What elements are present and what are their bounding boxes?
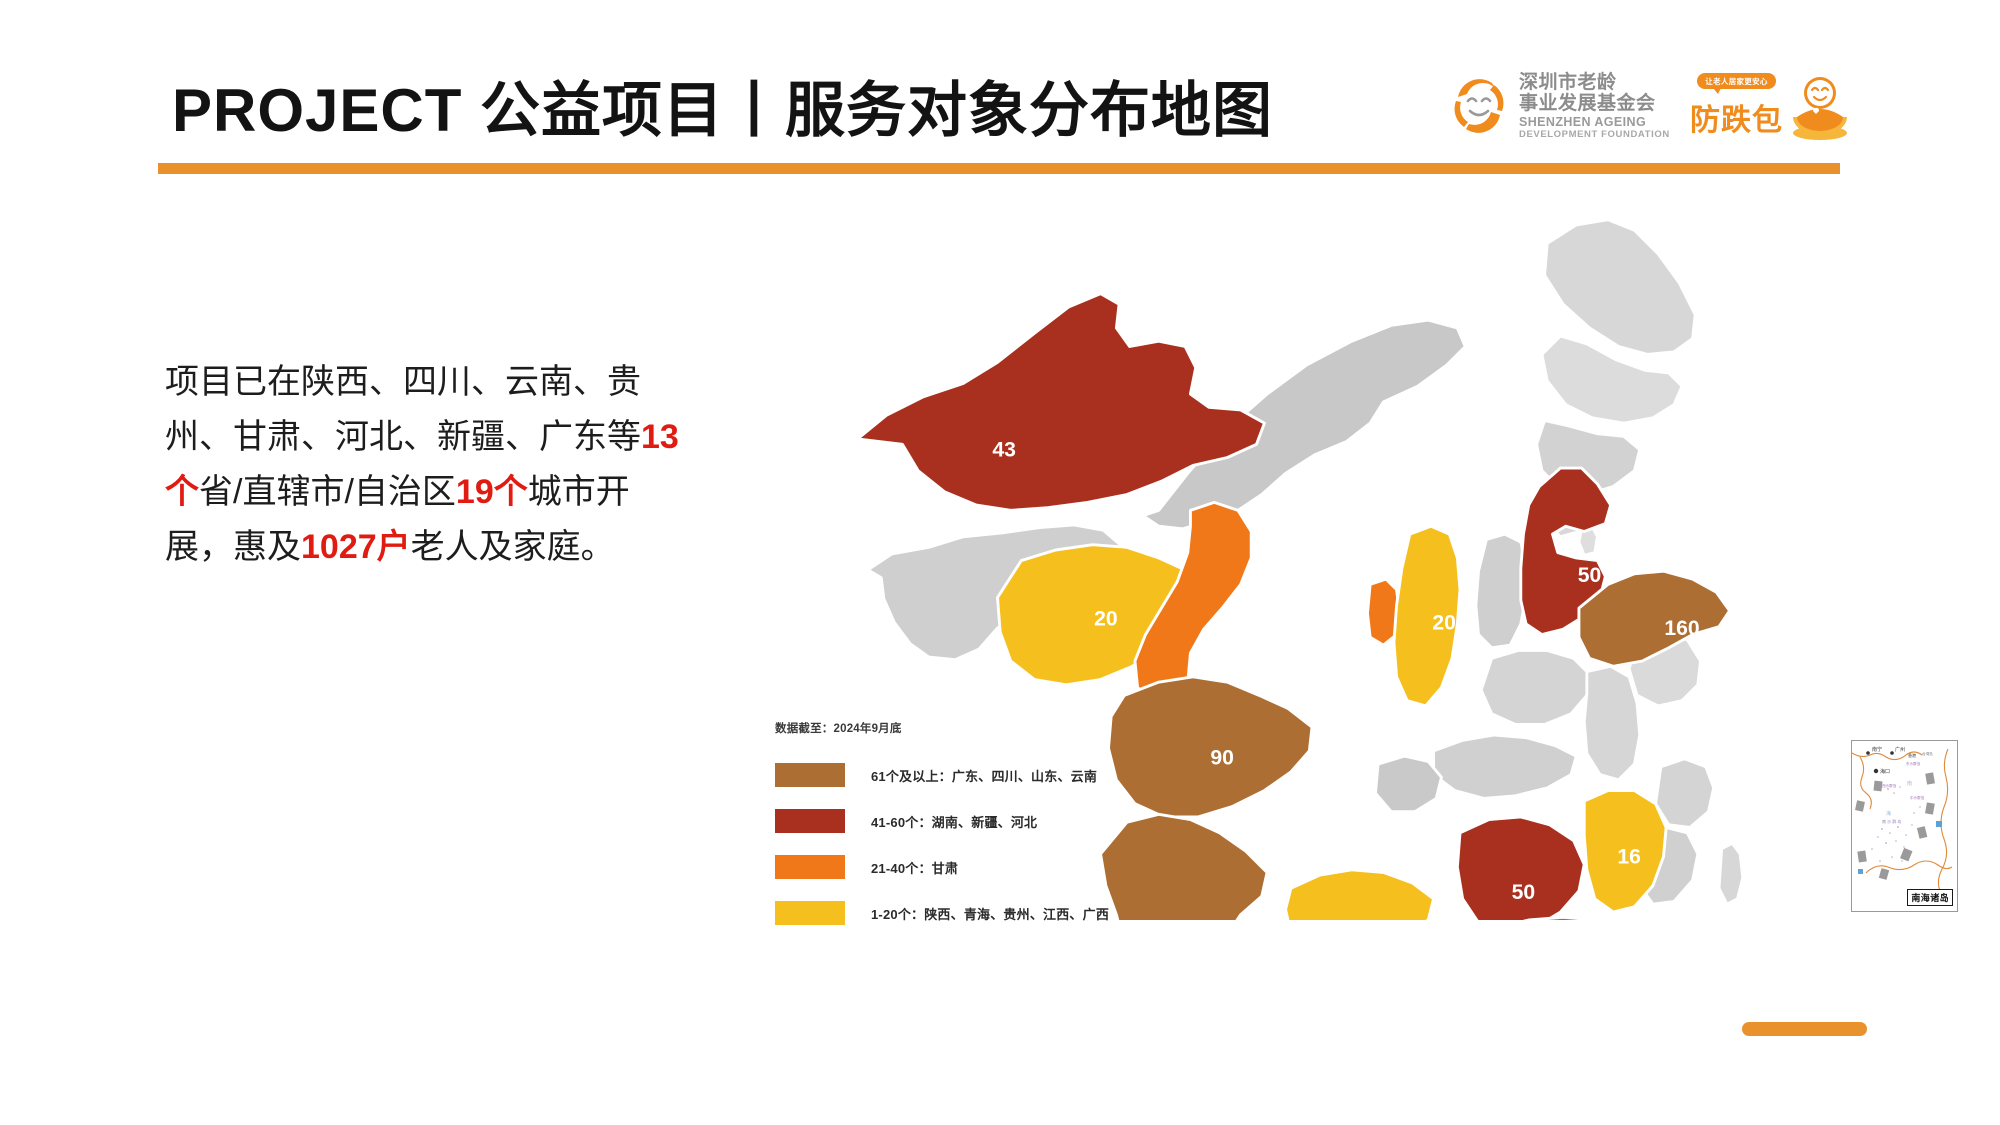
title-underline-rule (158, 163, 1840, 174)
region-chongqing (1375, 756, 1441, 812)
region-taiwan (1719, 843, 1743, 904)
svg-text:西沙群岛: 西沙群岛 (1882, 783, 1897, 788)
south-china-sea-inset-map: 南宁 广州 香港 海口 台湾岛 东沙群岛 中沙群岛 南 沙 群 岛 西沙群岛 南… (1851, 740, 1958, 912)
svg-text:广州: 广州 (1895, 746, 1905, 753)
svg-text:海口: 海口 (1880, 768, 1890, 775)
legend-swatch-3 (775, 901, 845, 925)
legend-row-2[interactable]: 21-40个：甘肃 (775, 855, 1195, 879)
svg-text:南宁: 南宁 (1872, 746, 1882, 753)
legend-swatch-0 (775, 763, 845, 787)
map-value-label-4: 50 (1578, 564, 1602, 587)
legend-row-0[interactable]: 61个及以上：广东、四川、山东、云南 (775, 763, 1195, 787)
svg-text:海: 海 (1886, 810, 1891, 817)
intro-text-0: 项目已在陕西、四川、云南、贵州、甘肃、河北、新疆、广东等 (165, 363, 641, 456)
svg-text:东沙群岛: 东沙群岛 (1906, 761, 1921, 766)
product-name: 防跌包 (1690, 95, 1783, 139)
region-anhui (1584, 666, 1640, 780)
map-value-label-3: 20 (1432, 612, 1456, 635)
foundation-cn-line1: 深圳市老龄 (1519, 73, 1670, 92)
map-value-label-5: 160 (1664, 617, 1699, 640)
shenzhen-ageing-circular-hands-icon (1448, 75, 1510, 137)
region-hunan (1457, 817, 1584, 920)
region-henan (1481, 650, 1589, 724)
region-shanxi (1476, 534, 1526, 648)
inset-map-svg: 南宁 广州 香港 海口 台湾岛 东沙群岛 中沙群岛 南 沙 群 岛 西沙群岛 南… (1852, 741, 1957, 911)
legend-label-3: 1-20个：陕西、青海、贵州、江西、广西 (871, 904, 1109, 923)
region-zhejiang (1656, 759, 1714, 828)
svg-text:台湾岛: 台湾岛 (1922, 751, 1933, 756)
intro-text-2: 省/直辖市/自治区 (199, 473, 456, 511)
svg-text:香港: 香港 (1908, 752, 1916, 758)
foundation-cn-line2: 事业发展基金会 (1519, 94, 1670, 113)
map-value-label-6: 90 (1210, 746, 1234, 769)
page-header: PROJECT 公益项目丨服务对象分布地图 深圳市老龄 事业发展基金会 SHEN… (0, 0, 2000, 190)
foundation-logo: 深圳市老龄 事业发展基金会 SHENZHEN AGEING DEVELOPMEN… (1448, 58, 1653, 154)
intro-highlight-5: 1027户 (301, 528, 411, 566)
product-logo: 让老人居家更安心 防跌包 (1690, 58, 1855, 154)
legend-label-2: 21-40个：甘肃 (871, 858, 958, 877)
svg-text:南: 南 (1907, 780, 1912, 787)
intro-paragraph: 项目已在陕西、四川、云南、贵州、甘肃、河北、新疆、广东等13个省/直辖市/自治区… (165, 355, 695, 575)
region-hubei (1434, 735, 1577, 798)
map-value-label-10: 50 (1512, 881, 1536, 904)
page-title: PROJECT 公益项目丨服务对象分布地图 (172, 62, 1273, 149)
region-guizhou (1286, 870, 1434, 920)
legend-swatch-2 (775, 855, 845, 879)
legend-row-1[interactable]: 41-60个：湖南、新疆、河北 (775, 809, 1195, 833)
map-value-label-1: 20 (1094, 608, 1118, 631)
map-legend: 数据截至：2024年9月底 61个及以上：广东、四川、山东、云南41-60个：湖… (775, 720, 1195, 947)
foundation-en-line2: DEVELOPMENT FOUNDATION (1519, 130, 1670, 140)
intro-text-6: 老人及家庭。 (411, 528, 615, 566)
intro-highlight-3: 19个 (456, 473, 528, 511)
legend-data-note: 数据截至：2024年9月底 (775, 720, 1195, 736)
footer-accent-bar (1742, 1022, 1867, 1036)
legend-swatch-1 (775, 809, 845, 833)
map-value-label-2: 40 (1339, 620, 1363, 643)
map-value-label-0: 43 (992, 438, 1016, 461)
legend-label-0: 61个及以上：广东、四川、山东、云南 (871, 766, 1097, 785)
foundation-en-line1: SHENZHEN AGEING (1519, 116, 1670, 129)
inset-map-caption: 南海诸岛 (1907, 889, 1953, 906)
legend-label-1: 41-60个：湖南、新疆、河北 (871, 812, 1037, 831)
map-value-label-11: 16 (1617, 845, 1641, 868)
legend-row-3[interactable]: 1-20个：陕西、青海、贵州、江西、广西 (775, 901, 1195, 925)
product-tagline-bubble: 让老人居家更安心 (1697, 73, 1775, 89)
fall-prevention-kit-character-icon (1789, 71, 1851, 141)
svg-text:中沙群岛: 中沙群岛 (1910, 795, 1925, 800)
svg-text:南 沙 群 岛: 南 沙 群 岛 (1882, 818, 1901, 824)
region-heilongjiang (1545, 220, 1696, 355)
